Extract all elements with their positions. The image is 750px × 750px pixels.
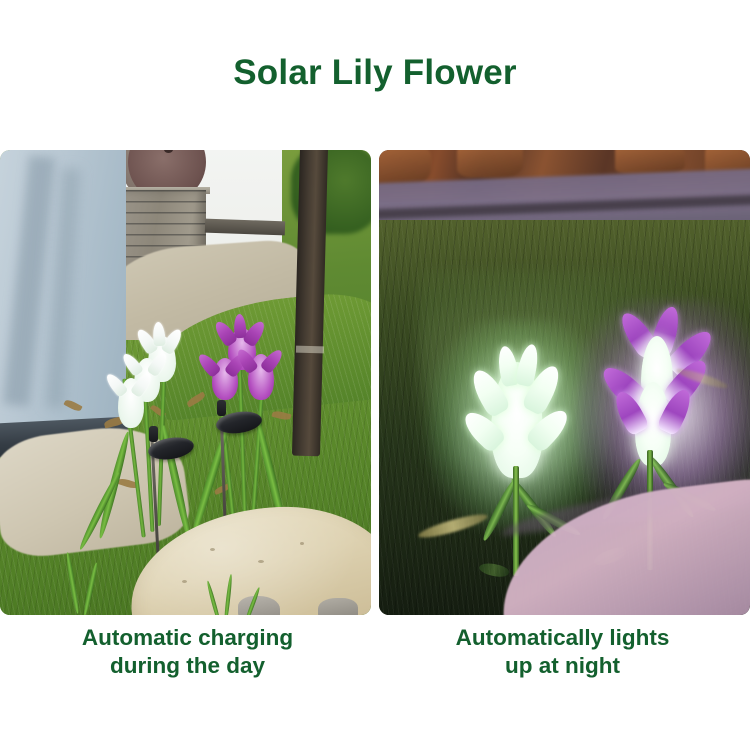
small-rock xyxy=(318,598,358,615)
product-image-page: Solar Lily Flower xyxy=(0,0,750,750)
page-title: Solar Lily Flower xyxy=(0,52,750,94)
grey-side-wall xyxy=(0,150,126,448)
rock-speck xyxy=(300,542,304,545)
low-kerb-wall xyxy=(205,219,285,236)
day-caption: Automatic charging during the day xyxy=(0,624,375,714)
solar-stake-neck xyxy=(217,400,226,416)
rock-speck xyxy=(210,548,215,551)
night-caption: Automatically lights up at night xyxy=(375,624,750,714)
panel-captions: Automatic charging during the day Automa… xyxy=(0,624,750,714)
day-photo-panel xyxy=(0,150,371,615)
day-caption-line-1: Automatic charging xyxy=(0,624,375,652)
wall-shadow-a xyxy=(3,155,55,406)
tree-trunk-ring xyxy=(296,346,324,354)
night-caption-line-1: Automatically lights xyxy=(375,624,750,652)
night-caption-line-2: up at night xyxy=(375,652,750,680)
daytime-photo xyxy=(0,150,371,615)
photo-panels xyxy=(0,150,750,615)
rock-block xyxy=(457,150,523,178)
nighttime-photo xyxy=(379,150,750,615)
wall-shadow-b xyxy=(46,168,81,409)
solar-stake-neck xyxy=(149,426,158,442)
day-caption-line-2: during the day xyxy=(0,652,375,680)
rock-block xyxy=(615,150,685,174)
rock-speck xyxy=(182,580,187,583)
small-rock xyxy=(238,596,280,615)
night-photo-panel xyxy=(379,150,750,615)
white-lily-stem xyxy=(513,466,519,576)
rock-speck xyxy=(258,560,264,563)
